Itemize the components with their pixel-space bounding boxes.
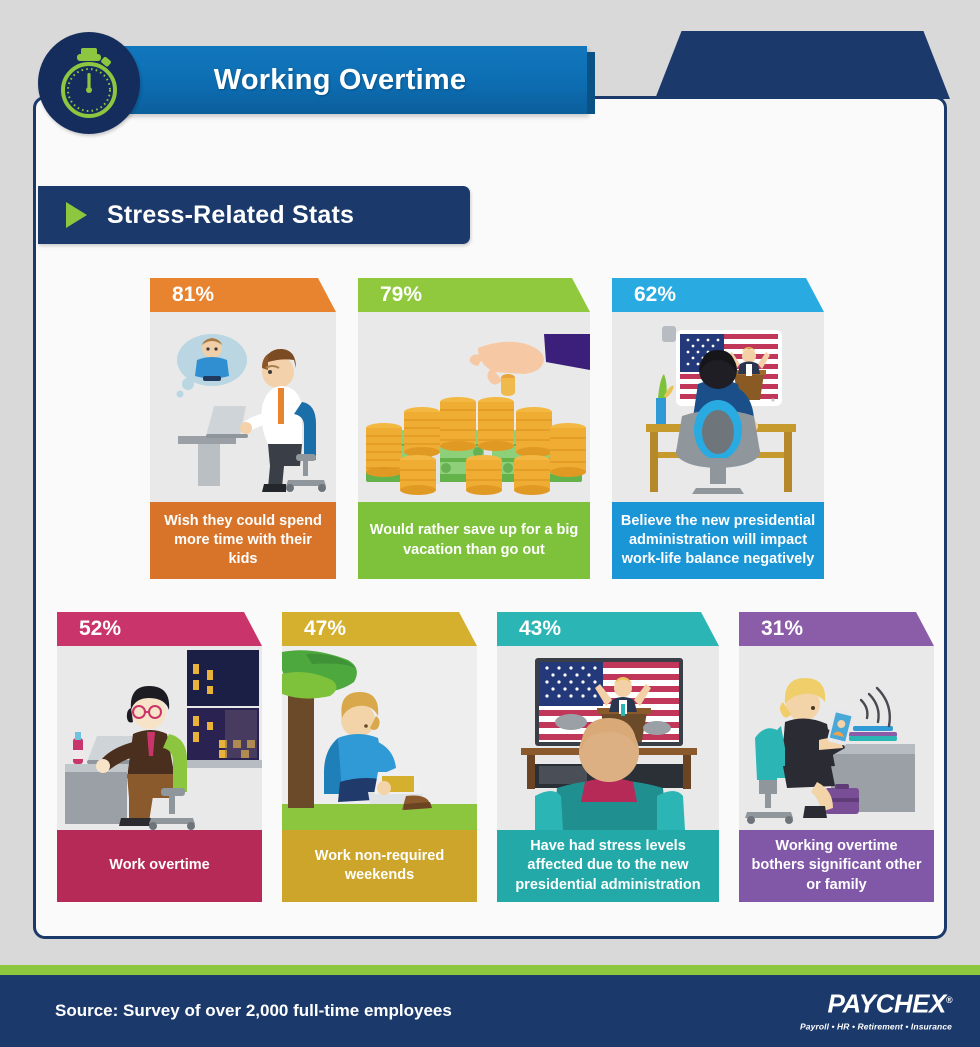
- stat-illustration: [282, 646, 477, 830]
- stat-card-tab: 81%: [150, 278, 336, 312]
- stat-percent: 47%: [304, 617, 346, 641]
- stat-card-52: 52%: [57, 612, 262, 902]
- stat-illustration: [612, 312, 824, 502]
- footer-bar: Source: Survey of over 2,000 full-time e…: [0, 975, 980, 1047]
- stat-card-tab: 47%: [282, 612, 477, 646]
- stat-caption: Working overtime bothers significant oth…: [739, 830, 934, 902]
- stats-row-1: 81%: [150, 278, 824, 579]
- stat-illustration: [57, 646, 262, 830]
- stat-card-tab: 62%: [612, 278, 824, 312]
- stat-card-43: 43%: [497, 612, 719, 902]
- logo-wordmark: PAYCHEX®: [800, 991, 952, 1017]
- paychex-logo: PAYCHEX® Payroll • HR • Retirement • Ins…: [800, 991, 952, 1032]
- page-title: Working Overtime: [93, 46, 587, 114]
- stat-caption: Work non-required weekends: [282, 830, 477, 902]
- stats-row-2: 52%: [57, 612, 934, 902]
- stat-card-79: 79%: [358, 278, 590, 579]
- hand-dropping-coin-on-money-stack-icon: [358, 312, 590, 502]
- stat-illustration: [739, 646, 934, 830]
- woman-at-desk-with-phone-icon: [739, 646, 934, 830]
- stat-card-31: 31%: [739, 612, 934, 902]
- stat-percent: 31%: [761, 617, 803, 641]
- source-text: Source: Survey of over 2,000 full-time e…: [55, 1001, 452, 1021]
- footer-accent-strip: [0, 965, 980, 975]
- stat-illustration: [150, 312, 336, 502]
- logo-tagline: Payroll • HR • Retirement • Insurance: [800, 1022, 952, 1032]
- play-triangle-icon: [66, 202, 87, 228]
- stat-card-47: 47%: [282, 612, 477, 902]
- person-under-tree-with-laptop-icon: [282, 646, 477, 830]
- folder-tab-right: [655, 31, 950, 99]
- logo-wordmark-text: PAYCHEX: [828, 989, 946, 1019]
- stat-card-tab: 31%: [739, 612, 934, 646]
- stopwatch-icon: [54, 46, 124, 120]
- stat-card-62: 62%: [612, 278, 824, 579]
- stat-illustration: [358, 312, 590, 502]
- stat-percent: 62%: [634, 283, 676, 307]
- stat-card-tab: 52%: [57, 612, 262, 646]
- stat-percent: 81%: [172, 283, 214, 307]
- section-title: Stress-Related Stats: [107, 201, 354, 230]
- stat-percent: 43%: [519, 617, 561, 641]
- stat-card-tab: 43%: [497, 612, 719, 646]
- stat-caption: Believe the new presidential administrat…: [612, 502, 824, 579]
- stat-percent: 52%: [79, 617, 121, 641]
- man-working-late-at-night-window-icon: [57, 646, 262, 830]
- stat-percent: 79%: [380, 283, 422, 307]
- stat-caption: Work overtime: [57, 830, 262, 902]
- stat-illustration: [497, 646, 719, 830]
- title-banner: Working Overtime: [93, 46, 587, 114]
- stopwatch-badge: [38, 32, 140, 134]
- trademark-icon: ®: [946, 995, 952, 1005]
- man-at-desk-watching-flag-screen-icon: [612, 312, 824, 502]
- stat-card-tab: 79%: [358, 278, 590, 312]
- infographic-page: Working Overtime Stress-Related Stats 81…: [0, 0, 980, 1047]
- stat-caption: Wish they could spend more time with the…: [150, 502, 336, 579]
- stat-caption: Would rather save up for a big vacation …: [358, 502, 590, 579]
- person-on-couch-watching-tv-icon: [497, 646, 719, 830]
- section-header: Stress-Related Stats: [38, 186, 470, 244]
- stat-card-81: 81%: [150, 278, 336, 579]
- stat-caption: Have had stress levels affected due to t…: [497, 830, 719, 902]
- man-at-laptop-thinking-of-baby-icon: [150, 312, 336, 502]
